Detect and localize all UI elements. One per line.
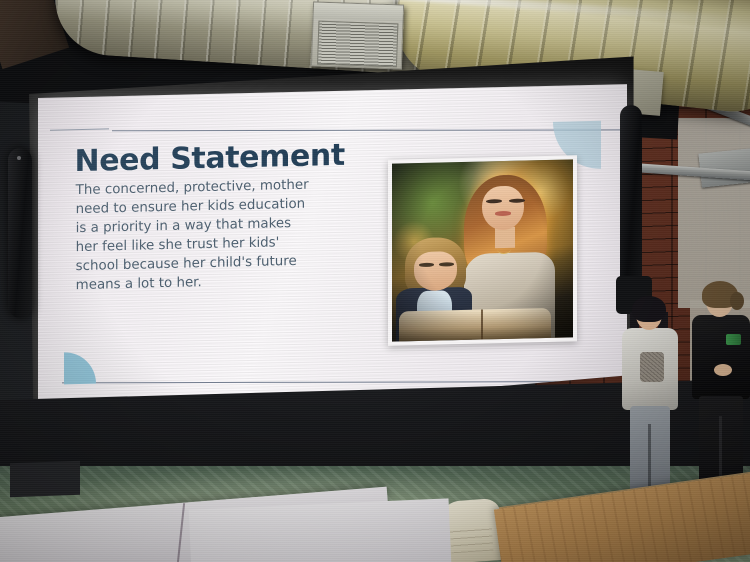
quarter-circle-bottom-left-icon	[64, 351, 96, 384]
photo-vignette	[392, 159, 572, 342]
slide-photo	[392, 159, 572, 342]
person2-tshirt	[692, 315, 750, 399]
vent-top-face	[314, 2, 404, 21]
person-gray-hoodie	[618, 300, 682, 500]
screen-surface: Need Statement The concerned, protective…	[26, 55, 636, 427]
person2-shirt-logo	[726, 334, 741, 345]
person1-hair	[632, 296, 666, 322]
rule-top-long	[112, 129, 624, 131]
white-table-second	[189, 498, 452, 562]
person-black-tee	[690, 286, 750, 500]
person1-hoodie-graphic	[640, 352, 664, 382]
metal-bracket	[698, 146, 750, 187]
room-scene: Need Statement The concerned, protective…	[0, 0, 750, 562]
projection-screen: Need Statement The concerned, protective…	[26, 55, 636, 427]
slide-body-text: The concerned, protective, mother need t…	[76, 174, 370, 295]
slide-content: Need Statement The concerned, protective…	[38, 84, 627, 414]
rule-bottom	[62, 380, 621, 382]
dark-cabinet-left	[10, 461, 80, 497]
presentation-slide: Need Statement The concerned, protective…	[38, 84, 627, 414]
slide-title: Need Statement	[75, 138, 345, 179]
wall-speaker-left	[8, 148, 32, 318]
rule-top-short	[50, 128, 109, 130]
person2-hair-bun	[730, 292, 744, 310]
person2-hands	[714, 364, 732, 376]
slide-photo-frame	[388, 155, 576, 346]
